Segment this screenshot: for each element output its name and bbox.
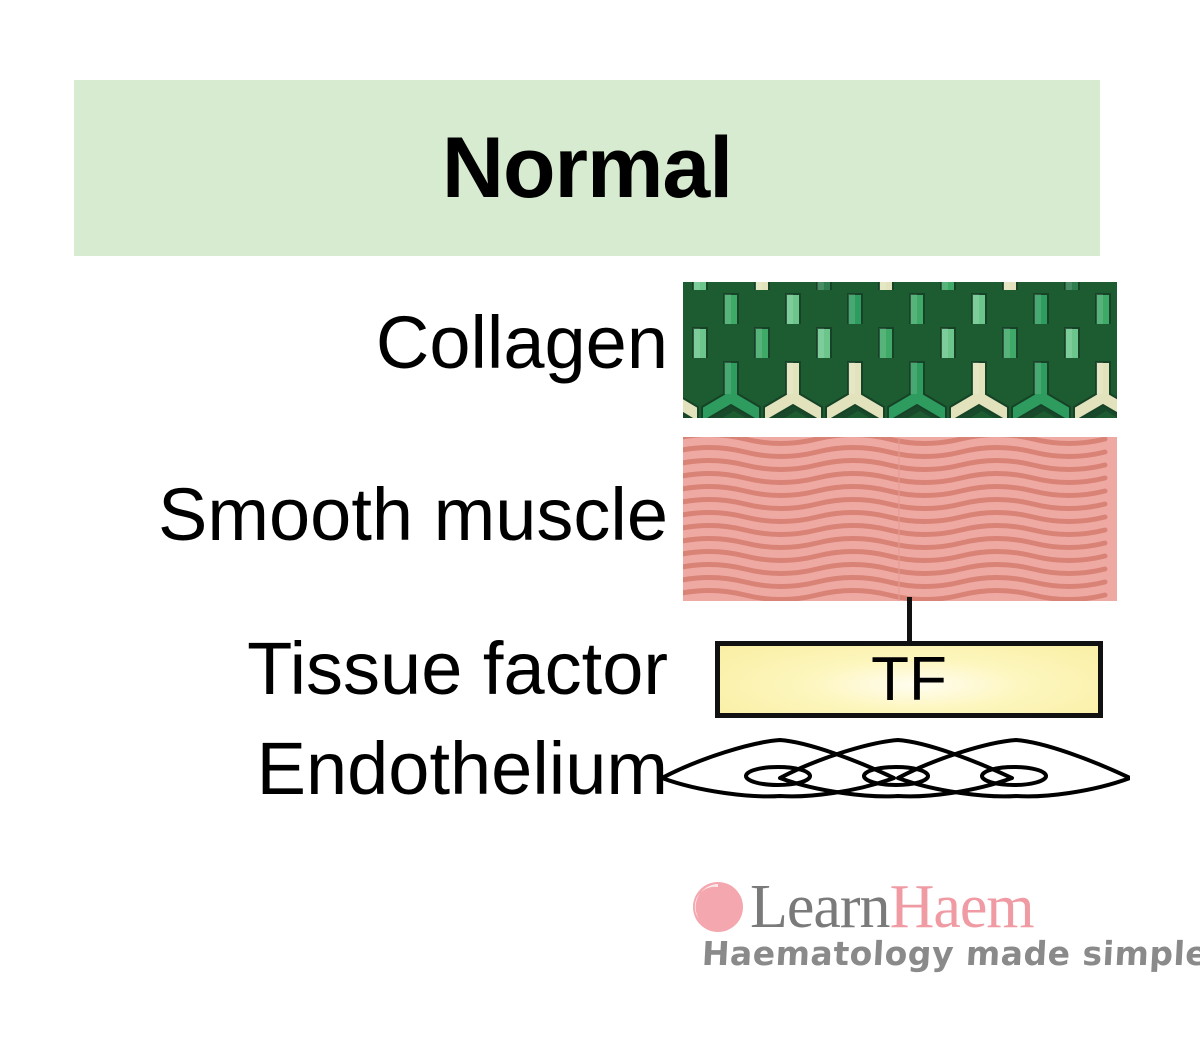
layer-label-collagen: Collagen xyxy=(0,306,668,380)
brand-tagline: Haematology made simple xyxy=(701,934,1200,973)
collagen-pattern-icon xyxy=(683,282,1117,418)
smooth-muscle-layer-graphic xyxy=(683,437,1117,601)
endothelium-layer-graphic xyxy=(660,736,1130,814)
tf-connector-line xyxy=(907,597,912,644)
brand-name-haem: Haem xyxy=(890,876,1034,938)
tissue-factor-box: TF xyxy=(715,641,1103,718)
layer-label-smooth-muscle: Smooth muscle xyxy=(0,478,668,552)
tissue-factor-box-label: TF xyxy=(871,649,947,711)
layer-label-endothelium: Endothelium xyxy=(0,732,668,806)
layer-label-tissue-factor: Tissue factor xyxy=(0,632,668,706)
red-blood-cell-icon xyxy=(690,879,746,935)
endothelial-cells-icon xyxy=(660,736,1130,814)
brand-logo: Learn Haem Haematology made simple xyxy=(690,876,1120,982)
brand-name-learn: Learn xyxy=(750,876,890,938)
collagen-layer-graphic xyxy=(683,282,1117,418)
header-band: Normal xyxy=(74,80,1100,256)
brand-wordmark: Learn Haem xyxy=(690,876,1034,938)
smooth-muscle-pattern-icon xyxy=(683,437,1117,601)
diagram-canvas: Normal Collagen Smooth muscle Tissue fac… xyxy=(0,0,1200,1053)
page-title: Normal xyxy=(442,125,732,211)
